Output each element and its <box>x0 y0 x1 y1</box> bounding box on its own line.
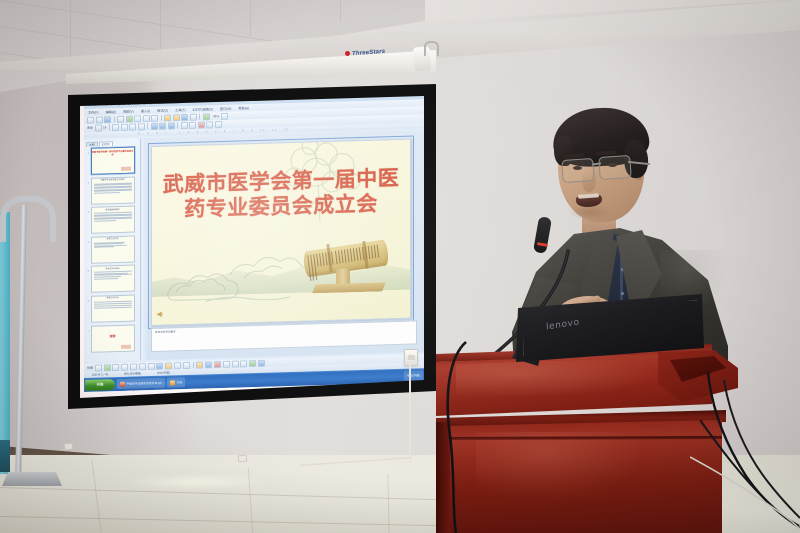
copy-icon[interactable] <box>143 115 150 122</box>
line-style-icon[interactable] <box>223 360 230 367</box>
thumbnail-body-lines <box>92 240 134 248</box>
arrow-style-icon[interactable] <box>240 360 247 367</box>
thumbnail-number: 5 <box>86 266 89 273</box>
list-item[interactable]: 3 委员会组织结构 <box>86 206 138 234</box>
thumbnail-body-lines <box>92 211 134 222</box>
thumbnail-illustration <box>121 167 131 171</box>
stand-arc <box>0 196 56 242</box>
taskbar-item-label: 文档 <box>176 377 182 387</box>
thumbnail-title: 武威市医学会第一届中医药专业委员会成立会 <box>92 148 134 158</box>
floor-cable-white <box>690 455 800 533</box>
thumbnail-number: 6 <box>86 296 89 303</box>
document-icon <box>170 380 175 385</box>
teal-panel <box>0 212 10 474</box>
toolbar-divider <box>177 122 178 128</box>
list-item[interactable]: 1 武威市医学会第一届中医药专业委员会成立会 <box>86 146 138 174</box>
podium-cable <box>436 340 496 533</box>
shadow-style-icon[interactable] <box>249 360 256 367</box>
insert-picture-icon[interactable] <box>174 362 181 369</box>
numbering-icon[interactable] <box>189 121 196 128</box>
slide-title[interactable]: 武威市医学会第一届中医 药专业委员会成立会 <box>160 166 402 223</box>
new-slide-icon[interactable] <box>203 113 210 120</box>
thumbnail-list[interactable]: 1 武威市医学会第一届中医药专业委员会成立会 2 中医药专业委员会工作规划 <box>86 146 138 360</box>
toolbar-divider <box>161 115 162 121</box>
glasses-temple-arm <box>628 161 650 165</box>
menu-edit[interactable]: 编辑(E) <box>105 109 116 114</box>
thumbnail-6[interactable]: 年度工作计划 <box>91 295 135 323</box>
menu-slideshow[interactable]: 幻灯片放映(D) <box>193 106 213 112</box>
toolbar-divider <box>114 116 115 122</box>
conduit-clip <box>238 455 247 463</box>
glasses-lens-right <box>598 155 632 180</box>
glasses-icon <box>554 156 650 182</box>
wall-junction-box[interactable] <box>404 349 418 366</box>
toolbar-divider <box>147 123 148 129</box>
laptop[interactable]: lenovo <box>516 286 714 366</box>
stand-foot <box>2 472 62 486</box>
font-size-value[interactable]: 18 <box>103 125 106 129</box>
thumbnail-illustration <box>121 344 131 348</box>
teal-panel-base <box>0 440 10 472</box>
start-button[interactable]: 开始 <box>85 379 115 391</box>
thumbnail-number: 7 <box>86 325 89 332</box>
line-icon[interactable] <box>112 363 119 370</box>
autoshapes-icon[interactable] <box>104 364 111 371</box>
thumbnail-number: 1 <box>86 148 89 155</box>
redo-icon[interactable] <box>173 114 180 121</box>
menu-file[interactable]: 文件(F) <box>88 110 98 115</box>
tab-slides[interactable]: 幻灯片 <box>99 141 113 146</box>
rectangle-icon[interactable] <box>130 363 137 370</box>
paste-icon[interactable] <box>151 114 158 121</box>
glasses-lens-left <box>561 158 595 183</box>
list-item[interactable]: 6 年度工作计划 <box>86 294 138 322</box>
align-right-icon[interactable] <box>168 122 175 129</box>
save-icon[interactable] <box>104 116 111 123</box>
open-icon[interactable] <box>96 116 103 123</box>
thumbnail-table <box>92 299 134 309</box>
insert-table-icon[interactable] <box>190 113 197 120</box>
thumbnail-number: 4 <box>86 237 89 244</box>
menu-tools[interactable]: 工具(T) <box>175 107 185 112</box>
thumbnail-number: 2 <box>86 177 89 184</box>
podium-body-sheen <box>476 432 646 502</box>
clipart-icon[interactable] <box>183 361 190 368</box>
photo-scene: ThreeStars Microsoft PowerPoint - [武威市医学… <box>0 0 800 533</box>
scroll-stand-base <box>312 282 386 293</box>
list-item[interactable]: 2 中医药专业委员会工作规划 <box>86 176 138 204</box>
list-item[interactable]: 7 谢谢 <box>86 324 138 352</box>
current-slide[interactable]: 武威市医学会第一届中医 药专业委员会成立会 <box>151 139 411 326</box>
powerpoint-icon <box>120 381 125 386</box>
bamboo-scroll-illustration <box>298 240 398 299</box>
underline-icon[interactable] <box>129 123 136 130</box>
italic-icon[interactable] <box>121 123 128 130</box>
vertical-ruler <box>142 138 147 360</box>
thumbnail-1[interactable]: 武威市医学会第一届中医药专业委员会成立会 <box>91 147 135 175</box>
diagram-icon[interactable] <box>165 362 172 369</box>
print-icon[interactable] <box>117 115 124 122</box>
screen-mount-hook <box>424 41 439 56</box>
projection-surface[interactable]: Microsoft PowerPoint - [武威市医学会第一届中医药专业委员… <box>62 84 442 409</box>
thumbnail-body-lines <box>92 270 134 279</box>
thumbnail-number: 3 <box>86 207 89 214</box>
font-name-value[interactable]: 宋体 <box>87 126 93 130</box>
align-center-icon[interactable] <box>159 122 166 129</box>
textbox-icon[interactable] <box>148 362 155 369</box>
speaker-icon[interactable] <box>157 311 164 318</box>
slide-editing-area[interactable]: 武威市医学会第一届中医 药专业委员会成立会 单击此处添加备注 <box>142 130 424 360</box>
insert-chart-icon[interactable] <box>181 114 188 121</box>
bold-icon[interactable] <box>112 123 119 130</box>
spellcheck-icon[interactable] <box>126 115 133 122</box>
menu-format[interactable]: 格式(O) <box>157 108 168 113</box>
powerpoint-window[interactable]: Microsoft PowerPoint - [武威市医学会第一届中医药专业委员… <box>84 92 424 392</box>
wall-conduit-vertical <box>409 363 411 463</box>
conduit-clip <box>64 443 73 451</box>
tab-outline[interactable]: 大纲 <box>86 142 98 147</box>
chevron-down-icon[interactable] <box>221 112 228 119</box>
oval-icon[interactable] <box>139 363 146 370</box>
slide-thumbnail-pane[interactable]: 大纲 幻灯片 1 武威市医学会第一届中医药专业委员会成立会 <box>84 138 141 362</box>
shadow-icon[interactable] <box>138 123 145 130</box>
chevron-down-icon[interactable] <box>95 364 102 371</box>
3d-style-icon[interactable] <box>258 359 265 366</box>
menu-window[interactable]: 窗口(W) <box>220 106 232 111</box>
thumbnail-title: 谢谢 <box>92 325 134 338</box>
menu-view[interactable]: 视图(V) <box>123 109 134 114</box>
increase-font-icon[interactable] <box>206 121 213 128</box>
dash-style-icon[interactable] <box>232 360 239 367</box>
taskbar-item-ppt[interactable]: 中医药专业委员会成立会.ppt <box>117 378 165 389</box>
menu-insert[interactable]: 插入(I) <box>141 108 150 113</box>
cut-icon[interactable] <box>134 115 141 122</box>
arrow-icon[interactable] <box>121 363 128 370</box>
toolbar-divider <box>199 114 200 120</box>
zoom-value[interactable]: 43% <box>211 114 219 118</box>
thumbnail-body-lines <box>92 181 134 193</box>
toolbar-divider <box>193 362 194 368</box>
thumbnail-2[interactable]: 中医药专业委员会工作规划 <box>91 176 135 204</box>
system-tray[interactable]: 中文(中国) <box>404 370 423 381</box>
font-color-icon[interactable] <box>198 121 205 128</box>
toolbar-divider <box>109 124 110 130</box>
taskbar-item-doc[interactable]: 文档 <box>167 377 185 388</box>
line-color-icon[interactable] <box>205 361 212 368</box>
thumbnail-7[interactable]: 谢谢 <box>91 324 135 352</box>
thumbnail-3[interactable]: 委员会组织结构 <box>91 206 135 234</box>
list-item[interactable]: 4 主要工作任务 <box>86 235 138 263</box>
taskbar-item-label: 中医药专业委员会成立会.ppt <box>127 378 162 389</box>
bullets-icon[interactable] <box>181 122 188 129</box>
list-item[interactable]: 5 学术交流与培训 <box>86 265 138 293</box>
decrease-font-icon[interactable] <box>215 121 222 128</box>
new-icon[interactable] <box>87 116 94 123</box>
chevron-down-icon[interactable] <box>95 124 102 131</box>
menu-help[interactable]: 帮助(H) <box>238 105 249 110</box>
fill-color-icon[interactable] <box>196 361 203 368</box>
draw-label[interactable]: 绘图 <box>87 366 93 370</box>
font-color-icon[interactable] <box>214 361 221 368</box>
thumbnail-4[interactable]: 主要工作任务 <box>91 235 135 263</box>
thumbnail-5[interactable]: 学术交流与培训 <box>91 265 135 293</box>
wordart-icon[interactable] <box>156 362 163 369</box>
undo-icon[interactable] <box>164 114 171 121</box>
scroll-stand-post <box>336 268 350 285</box>
align-left-icon[interactable] <box>151 122 158 129</box>
